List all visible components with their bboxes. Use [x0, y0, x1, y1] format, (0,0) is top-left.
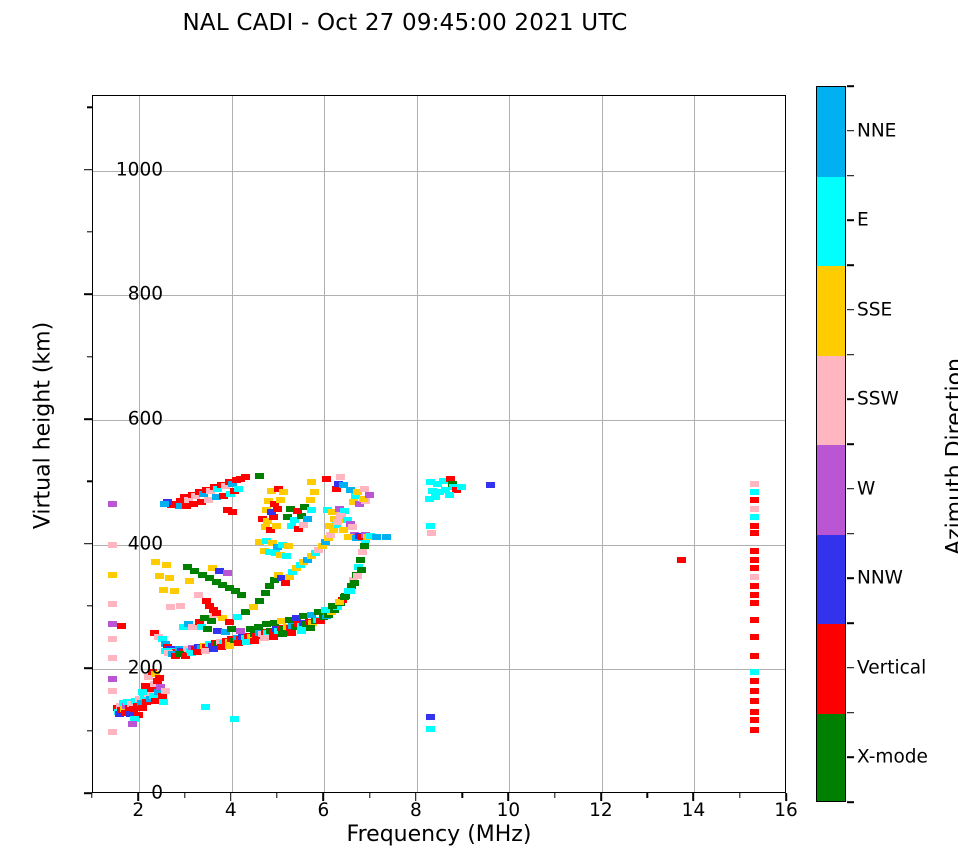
colorbar-boundary-tick [847, 264, 854, 266]
data-point [346, 588, 355, 594]
data-point [340, 594, 349, 600]
data-point [282, 553, 291, 559]
data-point [201, 704, 210, 710]
data-point [162, 562, 171, 568]
data-point [750, 600, 759, 606]
data-point [223, 570, 232, 576]
data-point [750, 727, 759, 733]
data-point [356, 557, 365, 563]
x-tick-minor [184, 793, 185, 798]
data-point [287, 630, 296, 636]
data-point [307, 479, 316, 485]
data-point [750, 497, 759, 503]
data-point [339, 482, 348, 488]
data-point [750, 557, 759, 563]
data-point [151, 559, 160, 565]
colorbar-label-sse: SSE [857, 299, 892, 320]
y-tick-mark [84, 294, 92, 296]
data-point [297, 628, 306, 634]
data-point [750, 481, 759, 487]
data-point [230, 716, 239, 722]
data-point [212, 610, 221, 616]
data-point [750, 717, 759, 723]
y-tick-label: 200 [128, 658, 172, 679]
data-point [750, 698, 759, 704]
colorbar-segment-e[interactable] [817, 177, 845, 267]
colorbar-label-nnw: NNW [857, 568, 903, 589]
colorbar-label-nne: NNE [857, 120, 896, 141]
colorbar-segment-vertical[interactable] [817, 624, 845, 714]
data-point [269, 634, 278, 640]
y-tick-minor [87, 231, 92, 232]
data-point [750, 688, 759, 694]
data-point [138, 705, 147, 711]
colorbar-tick-mark [847, 398, 854, 400]
data-point [750, 669, 759, 675]
data-point [241, 474, 250, 480]
x-tick-label: 16 [774, 800, 798, 821]
colorbar-label-e: E [857, 210, 869, 231]
data-point [445, 492, 454, 498]
data-point [750, 530, 759, 536]
data-point [176, 603, 185, 609]
colorbar-boundary-tick [847, 354, 854, 356]
data-point [108, 501, 117, 507]
colorbar-tick-mark [847, 667, 854, 669]
plot-area [92, 95, 786, 793]
data-point [360, 543, 369, 549]
y-tick-minor [87, 730, 92, 731]
colorbar-boundary-tick [847, 801, 854, 803]
data-point [207, 618, 216, 624]
y-tick-mark [84, 668, 92, 670]
data-point [372, 534, 381, 540]
data-point [234, 486, 243, 492]
data-point [750, 709, 759, 715]
x-tick-label: 12 [589, 800, 613, 821]
data-point [431, 494, 440, 500]
data-point [750, 489, 759, 495]
colorbar-segment-nne[interactable] [817, 87, 845, 177]
data-point [261, 590, 270, 596]
colorbar-boundary-tick [847, 85, 854, 87]
y-tick-mark [84, 418, 92, 420]
data-point [303, 516, 312, 522]
data-point [108, 729, 117, 735]
y-tick-minor [87, 107, 92, 108]
data-point [750, 678, 759, 684]
data-point [750, 574, 759, 580]
data-point [350, 580, 359, 586]
x-tick-label: 4 [225, 800, 237, 821]
data-point [457, 484, 466, 490]
colorbar-boundary-tick [847, 175, 854, 177]
data-point [128, 721, 137, 727]
colorbar-tick-mark [847, 577, 854, 579]
data-point [284, 543, 293, 549]
data-point [358, 549, 367, 555]
x-tick-minor [554, 793, 555, 798]
data-point [255, 598, 264, 604]
data-point [357, 567, 366, 573]
data-points-layer [93, 96, 785, 792]
x-tick-label: 6 [317, 800, 329, 821]
data-point [306, 625, 315, 631]
data-point [382, 534, 391, 540]
colorbar-label-ssw: SSW [857, 389, 899, 410]
colorbar-boundary-tick [847, 443, 854, 445]
x-tick-minor [461, 793, 462, 798]
y-tick-label: 0 [151, 783, 172, 804]
data-point [677, 557, 686, 563]
colorbar-tick-mark [847, 130, 854, 132]
data-point [750, 592, 759, 598]
data-point [353, 573, 362, 579]
data-point [255, 473, 264, 479]
colorbar-label-w: W [857, 478, 875, 499]
data-point [203, 626, 212, 632]
data-point [141, 683, 150, 689]
data-point [365, 492, 374, 498]
y-tick-minor [87, 481, 92, 482]
x-tick-minor [646, 793, 647, 798]
data-point [185, 578, 194, 584]
colorbar-segment-sse[interactable] [817, 266, 845, 356]
data-point [310, 489, 319, 495]
colorbar-segment-nnw[interactable] [817, 535, 845, 625]
colorbar-title: Azimuth Direction [943, 292, 958, 622]
y-tick-label: 600 [128, 409, 172, 430]
data-point [108, 572, 117, 578]
x-tick-label: 10 [497, 800, 521, 821]
data-point [307, 507, 316, 513]
data-point [750, 514, 759, 520]
data-point [166, 604, 175, 610]
colorbar-segment-w[interactable] [817, 445, 845, 535]
page-title: NAL CADI - Oct 27 09:45:00 2021 UTC [0, 10, 810, 36]
x-tick-label: 2 [132, 800, 144, 821]
data-point [750, 634, 759, 640]
data-point [426, 523, 435, 529]
data-point [160, 501, 169, 507]
data-point [279, 489, 288, 495]
data-point [426, 714, 435, 720]
data-point [750, 653, 759, 659]
y-axis-label: Virtual height (km) [31, 226, 56, 626]
colorbar-label-vertical: Vertical [857, 657, 926, 678]
colorbar-tick-mark [847, 309, 854, 311]
data-point [117, 623, 126, 629]
data-point [299, 522, 308, 528]
data-point [426, 726, 435, 732]
data-point [159, 587, 168, 593]
data-point [750, 523, 759, 529]
colorbar-boundary-tick [847, 622, 854, 624]
y-tick-minor [87, 356, 92, 357]
data-point [108, 621, 117, 627]
data-point [260, 635, 269, 641]
data-point [165, 575, 174, 581]
data-point [108, 676, 117, 682]
data-point [281, 580, 290, 586]
x-tick-minor [739, 793, 740, 798]
y-tick-label: 800 [128, 284, 172, 305]
data-point [348, 524, 357, 530]
data-point [108, 542, 117, 548]
x-tick-label: 8 [410, 800, 422, 821]
data-point [333, 519, 342, 525]
data-point [750, 617, 759, 623]
colorbar-segment-x-mode[interactable] [817, 714, 845, 803]
colorbar[interactable] [816, 86, 846, 802]
data-point [155, 573, 164, 579]
data-point [750, 548, 759, 554]
data-point [272, 523, 281, 529]
data-point [322, 476, 331, 482]
data-point [336, 474, 345, 480]
colorbar-boundary-tick [847, 533, 854, 535]
y-tick-minor [87, 605, 92, 606]
data-point [159, 699, 168, 705]
data-point [138, 689, 147, 695]
colorbar-segment-ssw[interactable] [817, 356, 845, 446]
data-point [236, 628, 245, 634]
colorbar-boundary-tick [847, 712, 854, 714]
data-point [427, 530, 436, 536]
x-tick-minor [91, 793, 92, 798]
data-point [170, 588, 179, 594]
data-point [486, 482, 495, 488]
data-point [265, 583, 274, 589]
y-tick-mark [84, 169, 92, 171]
data-point [278, 631, 287, 637]
colorbar-tick-mark [847, 488, 854, 490]
data-point [108, 601, 117, 607]
y-tick-label: 1000 [116, 159, 172, 180]
x-tick-minor [369, 793, 370, 798]
colorbar-tick-mark [847, 756, 854, 758]
data-point [108, 655, 117, 661]
colorbar-label-x-mode: X-mode [857, 747, 928, 768]
data-point [250, 638, 259, 644]
ionogram-figure: NAL CADI - Oct 27 09:45:00 2021 UTC 0200… [0, 0, 958, 857]
data-point [750, 565, 759, 571]
data-point [276, 497, 285, 503]
data-point [750, 506, 759, 512]
data-point [750, 583, 759, 589]
data-point [194, 592, 203, 598]
x-tick-label: 14 [682, 800, 706, 821]
colorbar-tick-mark [847, 219, 854, 221]
data-point [108, 688, 117, 694]
y-tick-mark [84, 543, 92, 545]
x-tick-minor [276, 793, 277, 798]
data-point [360, 486, 369, 492]
data-point [108, 636, 117, 642]
x-axis-label: Frequency (MHz) [92, 822, 786, 847]
data-point [161, 688, 170, 694]
y-tick-label: 400 [128, 533, 172, 554]
data-point [237, 592, 246, 598]
data-point [228, 509, 237, 515]
data-point [249, 604, 258, 610]
data-point [306, 497, 315, 503]
